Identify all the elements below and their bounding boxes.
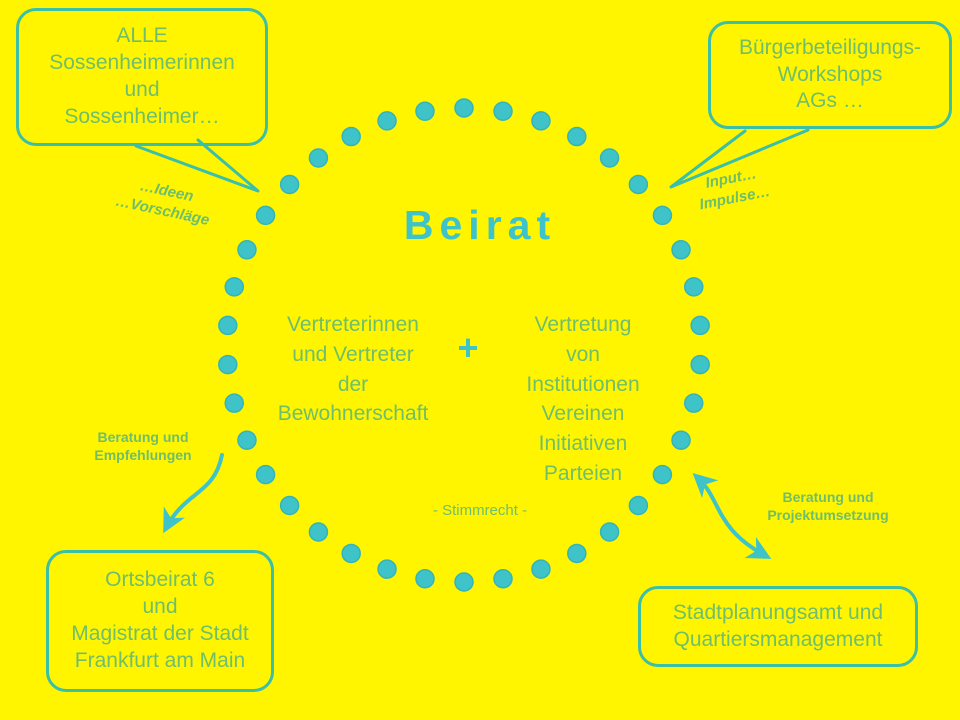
center-column-left: Vertreterinnen und Vertreter der Bewohne… — [258, 310, 448, 429]
annotation-beratung-proj-line-1: Beratung und — [748, 488, 908, 506]
ring-dot — [568, 544, 586, 562]
center-right-line-3: Institutionen — [488, 370, 678, 400]
center-left-line-3: der — [258, 370, 448, 400]
ring-dot — [629, 175, 647, 193]
bubble-buerger-line-1: Bürgerbeteiligungs- — [739, 35, 921, 62]
ring-dot — [691, 356, 709, 374]
ring-dot — [378, 560, 396, 578]
bubble-alle-line-3: und — [124, 77, 159, 104]
ring-dot — [532, 560, 550, 578]
bubble-alle-line-1: ALLE — [116, 23, 167, 50]
annotation-beratung-empf-line-2: Empfehlungen — [78, 446, 208, 464]
bubble-buerger-line-2: Workshops — [778, 62, 883, 89]
bubble-alle-line-4: Sossenheimer… — [64, 104, 219, 131]
ring-dot — [378, 112, 396, 130]
box-ortsbeirat-line-4: Frankfurt am Main — [75, 648, 245, 675]
box-stadtplanung-line-1: Stadtplanungsamt und — [673, 600, 883, 627]
ring-dot — [309, 523, 327, 541]
box-stadtplanungsamt-quartiersmanagement[interactable]: Stadtplanungsamt und Quartiersmanagement — [638, 586, 918, 667]
ring-dot — [281, 175, 299, 193]
ring-dot — [455, 99, 473, 117]
ring-dot — [257, 466, 275, 484]
center-right-line-6: Parteien — [488, 459, 678, 489]
center-left-line-2: und Vertreter — [258, 340, 448, 370]
box-ortsbeirat-line-1: Ortsbeirat 6 — [105, 567, 215, 594]
center-right-line-4: Vereinen — [488, 399, 678, 429]
center-right-line-5: Initiativen — [488, 429, 678, 459]
ring-dot — [219, 356, 237, 374]
annotation-beratung-empf-line-1: Beratung und — [78, 428, 208, 446]
ring-dot — [416, 570, 434, 588]
ring-dot — [685, 278, 703, 296]
ring-dot — [601, 149, 619, 167]
box-ortsbeirat-magistrat[interactable]: Ortsbeirat 6 und Magistrat der Stadt Fra… — [46, 550, 274, 692]
ring-dot — [225, 394, 243, 412]
ring-dot — [568, 128, 586, 146]
annotation-beratung-empfehlungen: Beratung und Empfehlungen — [78, 428, 208, 464]
center-left-line-4: Bewohnerschaft — [258, 399, 448, 429]
ring-dot — [494, 570, 512, 588]
box-ortsbeirat-line-2: und — [142, 594, 177, 621]
ring-dot — [685, 394, 703, 412]
bubble-buerger-line-3: AGs … — [796, 88, 864, 115]
ring-dot — [238, 431, 256, 449]
diagram-canvas: ALLE Sossenheimerinnen und Sossenheimer…… — [0, 0, 960, 720]
annotation-beratung-projektumsetzung: Beratung und Projektumsetzung — [748, 488, 908, 524]
center-right-line-2: von — [488, 340, 678, 370]
bubble-alle-sossenheimer[interactable]: ALLE Sossenheimerinnen und Sossenheimer… — [16, 8, 268, 146]
ring-dot — [691, 316, 709, 334]
center-left-line-1: Vertreterinnen — [258, 310, 448, 340]
ring-dot — [219, 316, 237, 334]
ring-dot — [494, 102, 512, 120]
box-ortsbeirat-line-3: Magistrat der Stadt — [71, 621, 248, 648]
center-column-right: Vertretung von Institutionen Vereinen In… — [488, 310, 678, 489]
ring-dot — [532, 112, 550, 130]
bubble-buergerbeteiligung[interactable]: Bürgerbeteiligungs- Workshops AGs … — [708, 21, 952, 129]
ring-dot — [416, 102, 434, 120]
bubble-alle-line-2: Sossenheimerinnen — [49, 50, 235, 77]
annotation-beratung-proj-line-2: Projektumsetzung — [748, 506, 908, 524]
plus-sign: + — [443, 330, 493, 366]
ring-dot — [225, 278, 243, 296]
center-right-line-1: Vertretung — [488, 310, 678, 340]
ring-dot — [455, 573, 473, 591]
ring-dot — [309, 149, 327, 167]
ring-dot — [342, 544, 360, 562]
ring-dot — [601, 523, 619, 541]
box-stadtplanung-line-2: Quartiersmanagement — [674, 627, 883, 654]
ring-dot — [342, 128, 360, 146]
